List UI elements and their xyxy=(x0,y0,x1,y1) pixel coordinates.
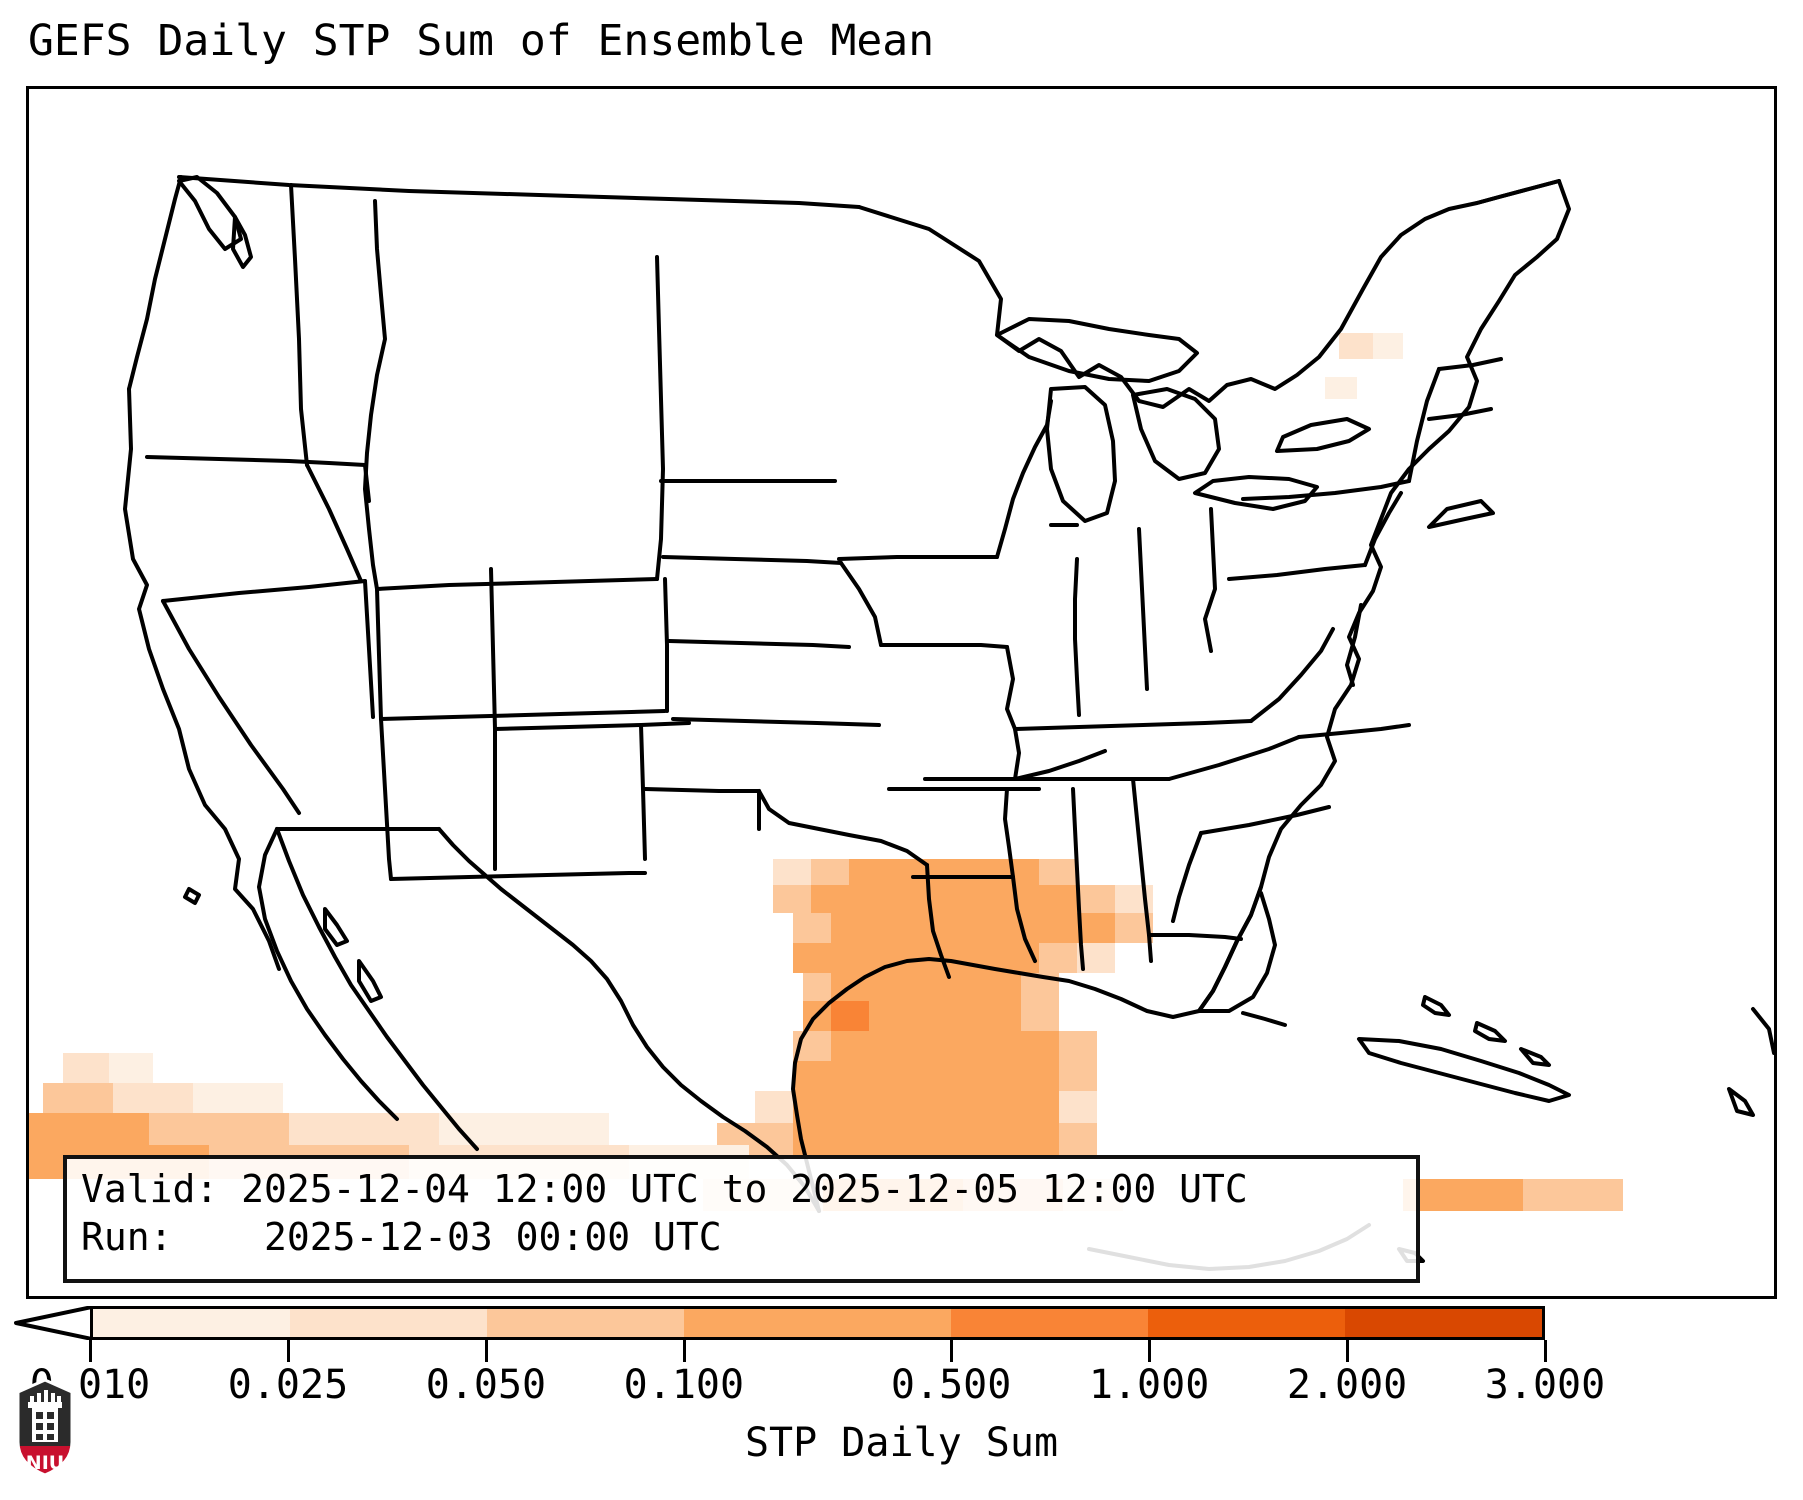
state-border-ok-tx-panhandle xyxy=(645,789,759,791)
colorbar-tick-label-3: 0.100 xyxy=(624,1362,744,1408)
state-border-ar-ms-vert xyxy=(1005,789,1013,877)
state-border-ne-ks xyxy=(669,641,849,647)
border-canada-us xyxy=(179,177,859,207)
lake-michigan xyxy=(1047,387,1115,521)
state-border-id-mt xyxy=(365,201,385,589)
lake-superior xyxy=(997,319,1197,381)
state-border-ny-vt-ma xyxy=(1409,369,1439,481)
colorbar-region: 0.0100.0250.0500.1000.5001.0002.0003.000… xyxy=(0,1300,1803,1500)
state-border-ut-az-nm xyxy=(381,719,391,879)
niu-logo-text: NIU xyxy=(26,1452,64,1474)
colorbar-tick-label-2: 0.050 xyxy=(426,1362,546,1408)
colorbar-tick-label-7: 3.000 xyxy=(1485,1362,1605,1408)
state-border-la-ms-vert xyxy=(1013,877,1035,961)
state-border-wa-id xyxy=(291,185,307,465)
state-border-ks-ok xyxy=(673,719,879,725)
colorbar-tick-label-5: 1.000 xyxy=(1089,1362,1209,1408)
border-great-lakes xyxy=(859,181,1559,407)
maine-coast xyxy=(1477,181,1559,203)
baja-island-b xyxy=(359,961,381,1001)
state-border-sd-ne xyxy=(663,557,841,563)
state-border-ia-mo xyxy=(881,645,1007,647)
colorbar-band-3 xyxy=(684,1309,950,1337)
state-border-va-nc xyxy=(1299,725,1409,737)
state-border-az-nm-vert xyxy=(491,569,495,869)
figure-root: GEFS Daily STP Sum of Ensemble Mean xyxy=(0,0,1803,1500)
state-border-tn-nc xyxy=(1169,737,1299,779)
colorbar-axis-label: STP Daily Sum xyxy=(0,1420,1803,1466)
geography-layer xyxy=(29,89,1774,1296)
state-border-il-ky xyxy=(1015,751,1105,779)
state-border-pa-md xyxy=(1229,565,1365,579)
state-border-mn-wi xyxy=(997,401,1051,557)
state-border-nm-tx-vert xyxy=(641,725,645,859)
coastline-atlantic xyxy=(1199,181,1569,1011)
colorbar-band-1 xyxy=(290,1309,487,1337)
east-edge-island xyxy=(1729,1089,1753,1115)
run-time-line: Run: 2025-12-03 00:00 UTC xyxy=(81,1215,722,1259)
state-border-nv-ca xyxy=(163,601,299,813)
colorbar-band-6 xyxy=(1345,1309,1542,1337)
state-border-nm-co xyxy=(495,723,689,729)
bahamas-c xyxy=(1521,1049,1549,1065)
state-border-oh-wv-pa xyxy=(1205,509,1215,651)
map-panel: Valid: 2025-12-04 12:00 UTC to 2025-12-0… xyxy=(26,86,1777,1299)
cuba xyxy=(1359,1039,1569,1101)
long-island xyxy=(1429,501,1493,527)
niu-shield-logo: NIU xyxy=(14,1378,76,1478)
valid-run-infobox: Valid: 2025-12-04 12:00 UTC to 2025-12-0… xyxy=(63,1155,1420,1283)
state-border-or-id xyxy=(307,465,361,581)
colorbar-tick-label-6: 2.000 xyxy=(1287,1362,1407,1408)
state-border-nm-south xyxy=(391,873,645,879)
state-border-ne-ia xyxy=(841,563,881,645)
state-border-in-oh xyxy=(1139,529,1147,689)
lake-erie xyxy=(1195,477,1317,509)
colorbar-tick-4 xyxy=(950,1340,953,1362)
border-us-mexico-rio-grande xyxy=(439,829,819,1211)
colorbar-tick-label-4: 0.500 xyxy=(891,1362,1011,1408)
state-border-wy-south xyxy=(377,589,381,719)
state-border-pa-ny xyxy=(1243,481,1409,499)
colorbar-band-4 xyxy=(951,1309,1148,1337)
colorbar-tick-7 xyxy=(1544,1340,1547,1362)
state-border-ut-co-line xyxy=(381,711,665,719)
state-border-nv-ut xyxy=(365,581,373,717)
figure-title: GEFS Daily STP Sum of Ensemble Mean xyxy=(28,16,934,66)
state-border-sc-ga xyxy=(1173,833,1201,921)
state-border-md-de-nj xyxy=(1365,493,1401,565)
map-clip: Valid: 2025-12-04 12:00 UTC to 2025-12-0… xyxy=(29,89,1774,1296)
colorbar-tick-3 xyxy=(683,1340,686,1362)
state-border-mo-il xyxy=(1007,647,1019,779)
state-border-mt-nd xyxy=(657,257,663,579)
state-border-ok-tx xyxy=(759,791,927,865)
baja-peninsula xyxy=(259,829,397,1119)
coastline-california xyxy=(129,177,181,389)
colorbar-tick-2 xyxy=(485,1340,488,1362)
colorbar-tick-1 xyxy=(287,1340,290,1362)
state-border-ga-fl xyxy=(1149,935,1241,939)
bahamas-a xyxy=(1423,997,1449,1015)
state-border-or-ca-nv xyxy=(163,581,365,601)
mexico-island-small xyxy=(185,889,199,903)
colorbar-gradient xyxy=(90,1306,1545,1340)
state-border-wa-or xyxy=(147,457,365,465)
state-border-mt-wy-nd xyxy=(377,579,657,589)
colorbar-tick-labels: 0.0100.0250.0500.1000.5001.0002.0003.000 xyxy=(0,1362,1803,1418)
state-border-wy-east xyxy=(665,579,667,711)
colorbar-under-arrow xyxy=(10,1306,92,1340)
state-border-ky-tn xyxy=(1015,721,1251,729)
colorbar-tick-5 xyxy=(1148,1340,1151,1362)
colorbar-band-5 xyxy=(1148,1309,1345,1337)
bahamas-b xyxy=(1475,1023,1505,1041)
florida-keys xyxy=(1243,1013,1285,1025)
east-edge-land xyxy=(1753,1009,1774,1053)
colorbar-tick-label-1: 0.025 xyxy=(228,1362,348,1408)
colorbar-band-2 xyxy=(487,1309,684,1337)
baja-island-a xyxy=(325,909,347,945)
colorbar-ticks xyxy=(90,1340,1545,1362)
valid-time-line: Valid: 2025-12-04 12:00 UTC to 2025-12-0… xyxy=(81,1167,1248,1211)
state-border-nc-sc xyxy=(1201,807,1329,833)
colorbar-band-0 xyxy=(93,1309,290,1337)
state-border-ia-mn xyxy=(839,557,997,559)
coastline-pacific-northwest xyxy=(125,389,279,969)
colorbar-tick-0 xyxy=(89,1340,92,1362)
lake-ontario xyxy=(1277,419,1369,451)
colorbar-tick-6 xyxy=(1346,1340,1349,1362)
state-border-ky-va-wv xyxy=(1251,629,1333,721)
state-border-ms-al-vert xyxy=(1073,789,1083,969)
state-border-il-in xyxy=(1075,559,1079,715)
